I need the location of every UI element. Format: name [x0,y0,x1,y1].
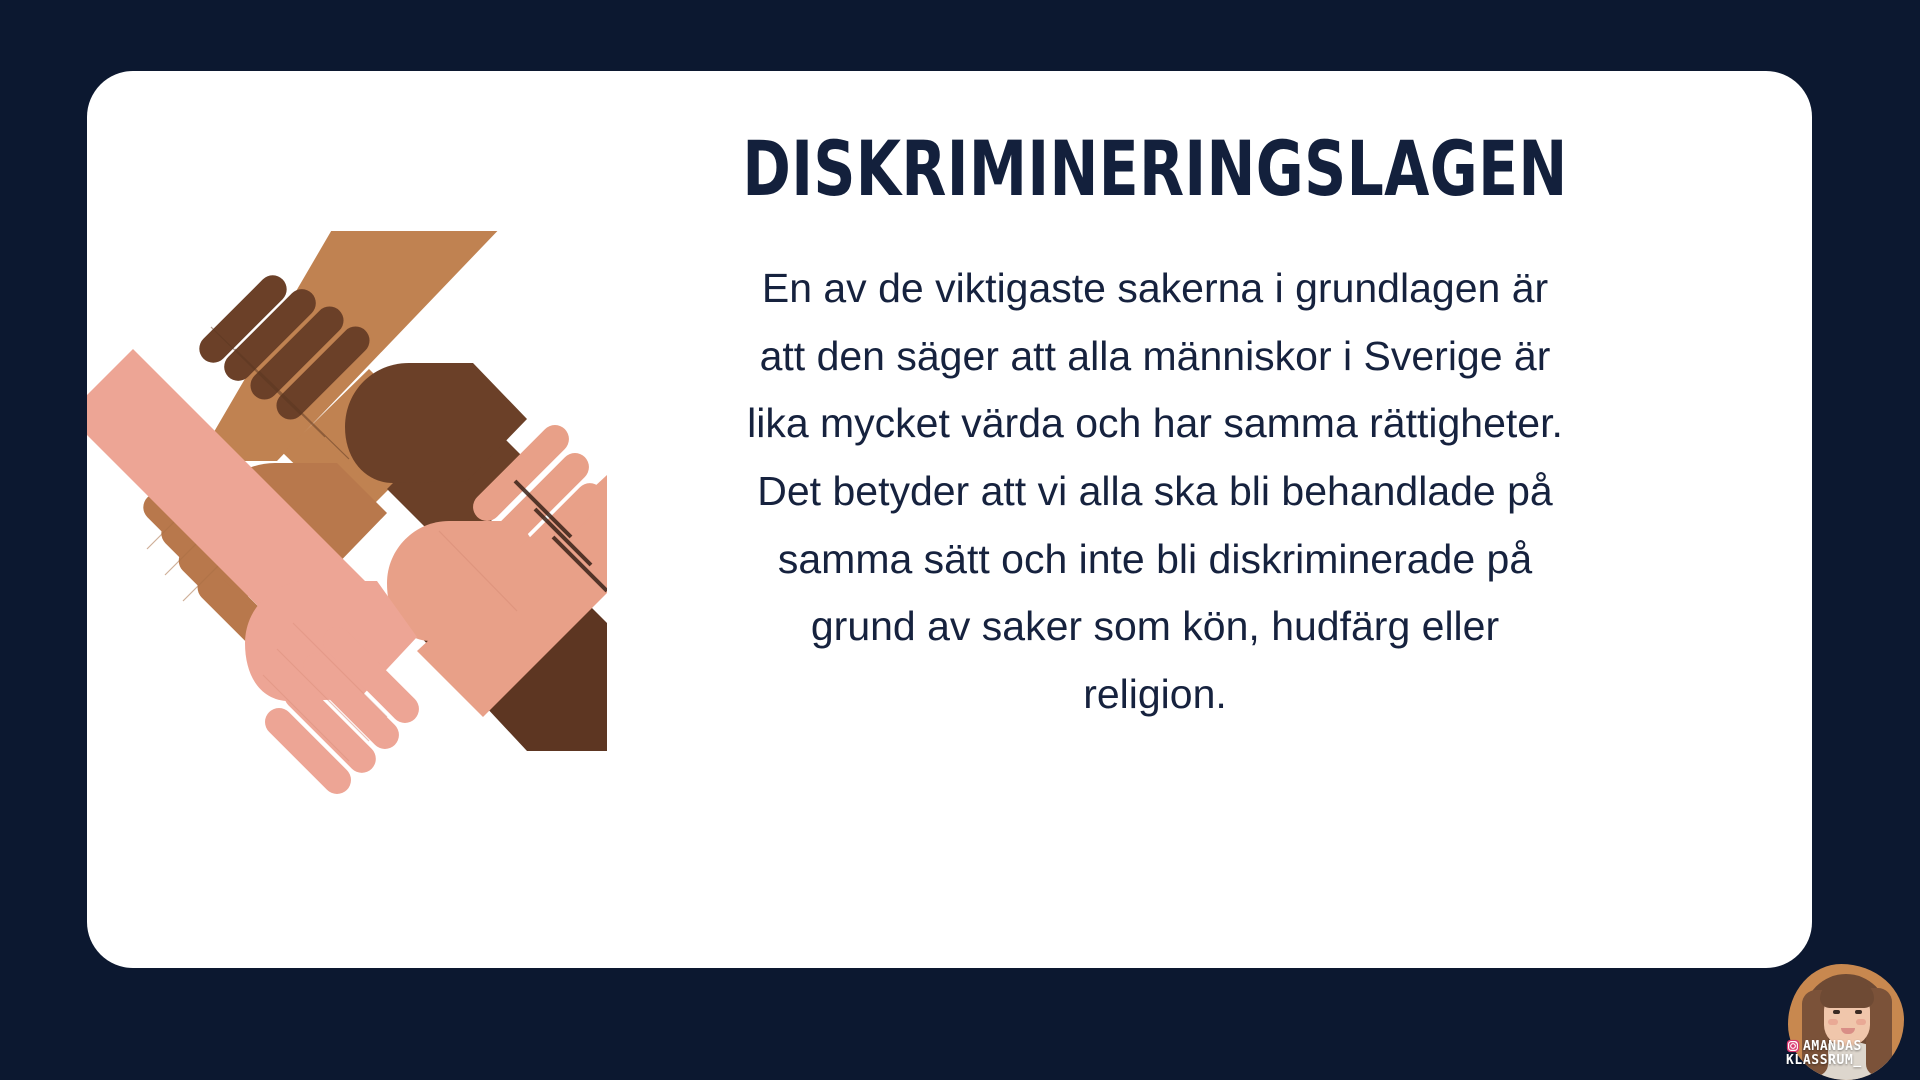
body-line: religion. [615,661,1695,729]
watermark-badge: AMANDAS KLASSRUM_ [1780,960,1912,1080]
body-line: Det betyder att vi alla ska bli behandla… [615,458,1695,526]
body-line: grund av saker som kön, hudfärg eller [615,593,1695,661]
text-column: DISKRIMINERINGSLAGEN En av de viktigaste… [615,131,1695,728]
avatar-fringe [1820,982,1874,1008]
handle-line-top: AMANDAS [1786,1039,1862,1053]
body-line: En av de viktigaste sakerna i grundlagen… [615,255,1695,323]
handle-text-bottom: KLASSRUM_ [1786,1054,1862,1068]
four-hands-illustration [87,231,607,811]
body-line: samma sätt och inte bli diskriminerade p… [615,526,1695,594]
avatar-eye-right [1855,1010,1862,1014]
content-card: DISKRIMINERINGSLAGEN En av de viktigaste… [87,71,1812,968]
body-line: att den säger att alla människor i Sveri… [615,323,1695,391]
handle-line-bottom: KLASSRUM_ [1786,1054,1862,1068]
slide-root: DISKRIMINERINGSLAGEN En av de viktigaste… [0,0,1920,1080]
body-paragraph: En av de viktigaste sakerna i grundlagen… [615,207,1695,728]
avatar-cheek-right [1856,1019,1866,1025]
handle-text-top: AMANDAS [1803,1040,1862,1054]
avatar-cheek-left [1828,1019,1838,1025]
body-line: lika mycket värda och har samma rättighe… [615,390,1695,458]
avatar-eye-left [1833,1010,1840,1014]
instagram-handle: AMANDAS KLASSRUM_ [1782,1039,1910,1068]
page-title: DISKRIMINERINGSLAGEN [740,131,1570,207]
instagram-icon [1786,1039,1800,1053]
